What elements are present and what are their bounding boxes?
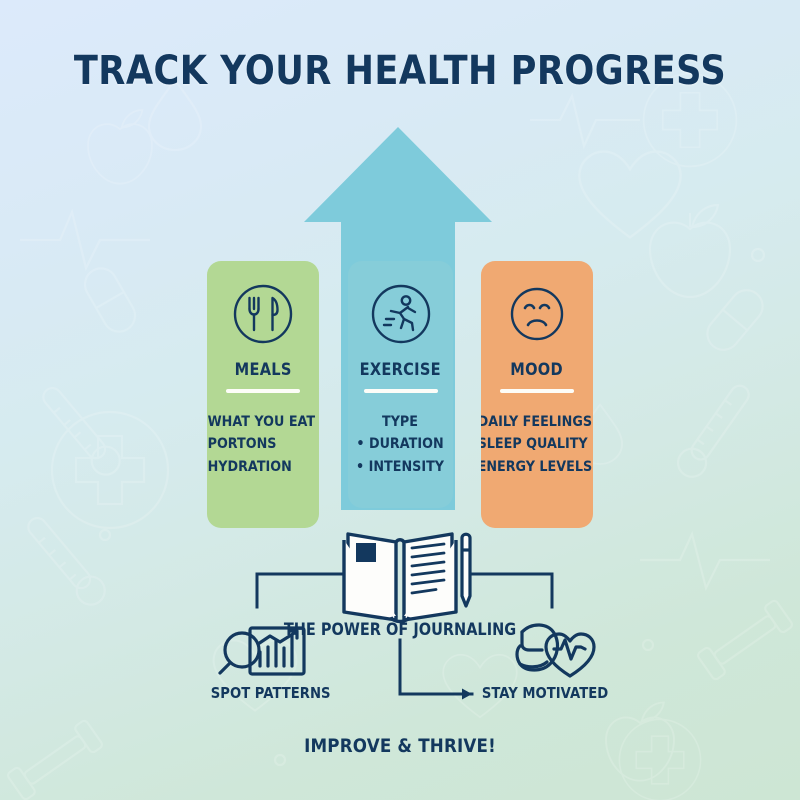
spot-patterns-label: SPOT PATTERNS <box>211 684 325 702</box>
open-book-with-pen-icon <box>344 534 470 622</box>
stay-motivated-label: STAY MOTIVATED <box>479 684 611 702</box>
infographic-canvas: TRACK YOUR HEALTH PROGRESS MEALS <box>0 0 800 800</box>
journaling-label: THE POWER OF JOURNALING <box>48 620 752 639</box>
journaling-diagram <box>0 0 800 800</box>
footer-slogan: IMPROVE & THRIVE! <box>48 735 752 757</box>
arrowhead-icon <box>462 689 472 700</box>
